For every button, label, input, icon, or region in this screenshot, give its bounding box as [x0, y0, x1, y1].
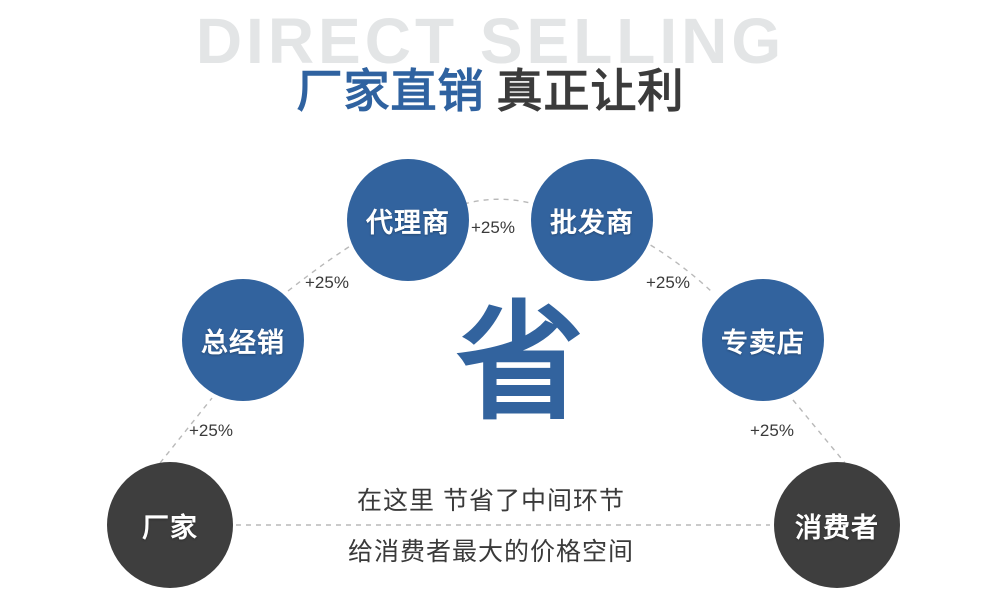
node-wholesaler-label: 批发商: [550, 201, 634, 240]
connector-agent-wholesaler: [464, 199, 538, 205]
node-factory-label: 厂家: [142, 506, 198, 545]
node-factory[interactable]: 厂家: [107, 462, 233, 588]
save-character: 省: [430, 300, 610, 428]
node-store-label: 专卖店: [721, 321, 805, 360]
node-agent-label: 代理商: [366, 201, 450, 240]
node-distributor-label: 总经销: [201, 321, 285, 360]
connector-store-consumer: [793, 400, 845, 463]
markup-label-agent-wholesaler: +25%: [471, 218, 515, 238]
markup-label-wholesaler-store: +25%: [646, 273, 690, 293]
markup-label-store-consumer: +25%: [750, 421, 794, 441]
markup-label-factory-distributor: +25%: [189, 421, 233, 441]
node-consumer-label: 消费者: [795, 506, 879, 545]
node-consumer[interactable]: 消费者: [774, 462, 900, 588]
slogan-line-1: 在这里 节省了中间环节: [281, 481, 701, 517]
node-wholesaler[interactable]: 批发商: [531, 159, 653, 281]
node-distributor[interactable]: 总经销: [182, 279, 304, 401]
node-agent[interactable]: 代理商: [347, 159, 469, 281]
markup-label-distributor-agent: +25%: [305, 273, 349, 293]
direct-selling-poster: DIRECT SELLING 厂家直销真正让利 省 代理商 批发商 总经销 专: [0, 0, 981, 607]
slogan-line-2: 给消费者最大的价格空间: [281, 532, 701, 568]
node-store[interactable]: 专卖店: [702, 279, 824, 401]
